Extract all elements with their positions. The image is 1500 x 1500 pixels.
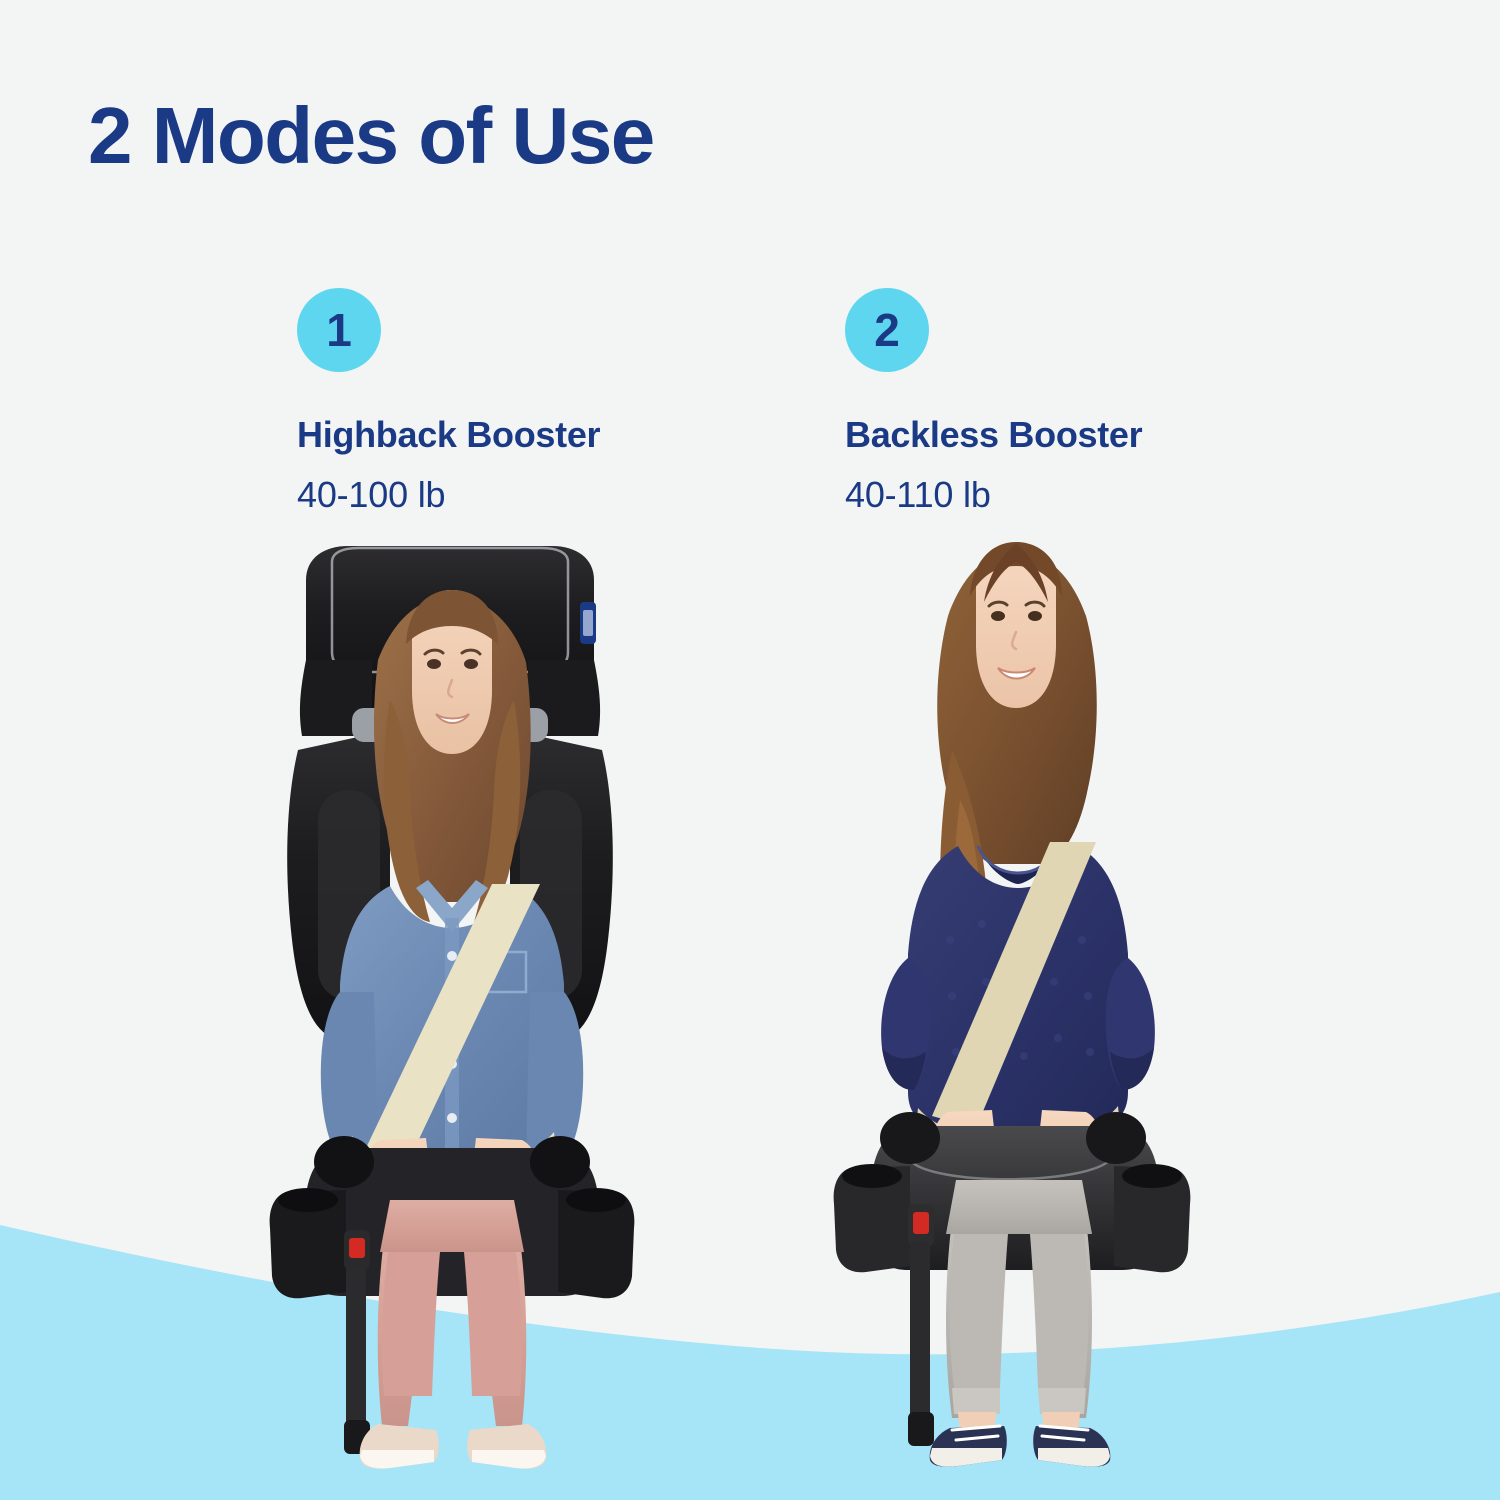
- mode-item-highback[interactable]: 1 Highback Booster 40-100 lb: [297, 288, 600, 516]
- page-title: 2 Modes of Use: [88, 90, 654, 182]
- infographic-page: 2 Modes of Use: [0, 0, 1500, 1500]
- buckle-release: [349, 1238, 365, 1258]
- mode-title-1: Highback Booster: [297, 414, 600, 456]
- mode-weight-2: 40-110 lb: [845, 474, 1142, 516]
- buckle-release: [913, 1212, 929, 1234]
- photo-highback-booster: [240, 540, 660, 1470]
- photo-backless-booster: [800, 520, 1220, 1470]
- mode-number-1: 1: [326, 307, 352, 353]
- latch-strap: [346, 1266, 366, 1446]
- mode-item-backless[interactable]: 2 Backless Booster 40-110 lb: [845, 288, 1142, 516]
- mode-number-2: 2: [874, 307, 900, 353]
- bottom-blue-wave: [0, 1080, 1500, 1500]
- mode-number-badge-2: 2: [845, 288, 929, 372]
- latch-strap: [910, 1242, 930, 1438]
- mode-weight-1: 40-100 lb: [297, 474, 600, 516]
- mode-number-badge-1: 1: [297, 288, 381, 372]
- mode-title-2: Backless Booster: [845, 414, 1142, 456]
